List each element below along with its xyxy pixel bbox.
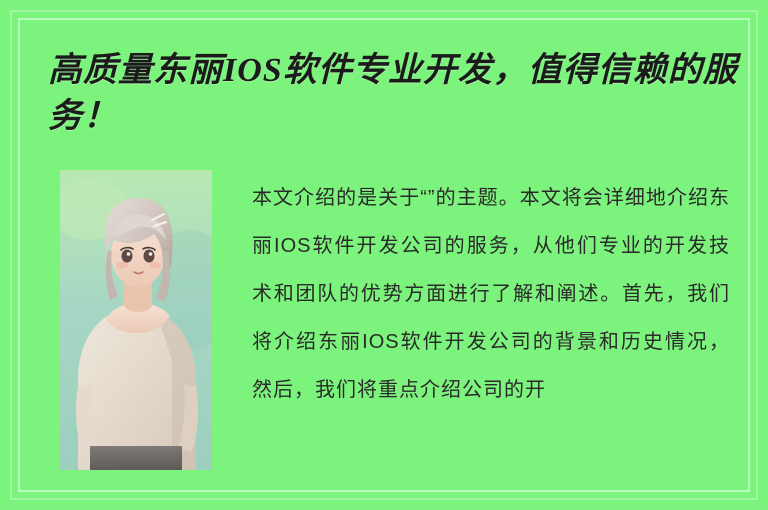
article-body: 本文介绍的是关于“”的主题。本文将会详细地介绍东丽IOS软件开发公司的服务，从他… <box>252 174 730 414</box>
article-content: 本文介绍的是关于“”的主题。本文将会详细地介绍东丽IOS软件开发公司的服务，从他… <box>44 170 730 470</box>
article-card: 高质量东丽IOS软件专业开发，值得信赖的服务！ <box>0 0 768 510</box>
page-title: 高质量东丽IOS软件专业开发，值得信赖的服务！ <box>48 48 738 140</box>
portrait-image <box>60 170 212 470</box>
text-fade-overlay <box>244 428 730 470</box>
